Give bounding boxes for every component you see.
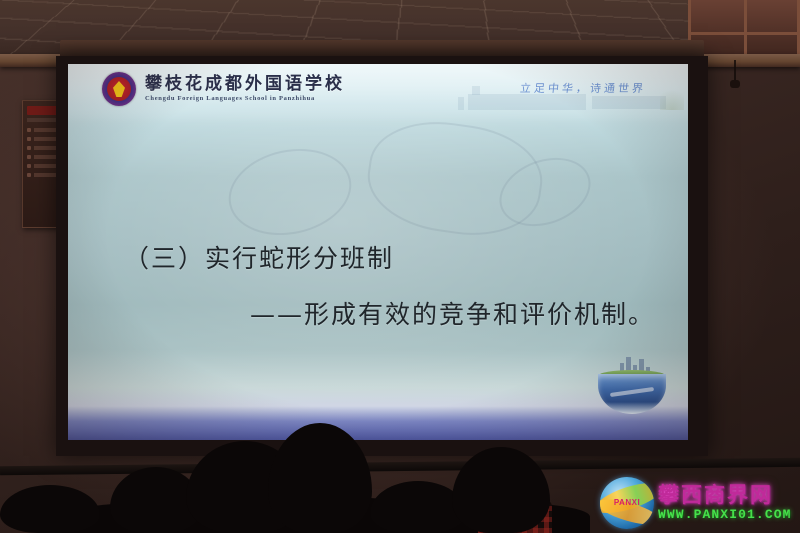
campus-building-graphic	[472, 86, 480, 95]
projection-screen: 攀枝花成都外国语学校 Chengdu Foreign Languages Sch…	[56, 56, 708, 456]
upper-right-window	[688, 0, 800, 62]
watermark-url: WWW.PANXI01.COM	[658, 507, 792, 522]
school-name-block: 攀枝花成都外国语学校 Chengdu Foreign Languages Sch…	[145, 76, 345, 103]
campus-building-graphic	[458, 97, 464, 110]
whiteboard-marks	[221, 138, 360, 246]
globe-label: PANXI	[600, 498, 654, 507]
campus-building-graphic	[592, 96, 666, 109]
panxi-globe-icon: PANXI	[600, 477, 654, 529]
school-motto-calligraphy: 立足中华，诗通世界	[519, 80, 647, 96]
campus-foliage-graphic	[660, 84, 684, 110]
watermark-site-name: 攀西商界网	[658, 484, 792, 506]
site-watermark: PANXI 攀西商界网 WWW.PANXI01.COM	[600, 475, 796, 531]
slide-heading: （三）实行蛇形分班制	[124, 239, 394, 275]
school-name-cn: 攀枝花成都外国语学校	[145, 76, 345, 94]
presentation-slide: 攀枝花成都外国语学校 Chengdu Foreign Languages Sch…	[68, 64, 688, 440]
campus-building-graphic	[468, 94, 586, 110]
globe-city-artwork	[596, 356, 668, 418]
school-emblem-icon	[102, 72, 136, 106]
watermark-text-block: 攀西商界网 WWW.PANXI01.COM	[658, 484, 792, 522]
school-name-en: Chengdu Foreign Languages School in Panz…	[145, 95, 345, 102]
hanging-fixture-icon	[734, 60, 736, 82]
slide-branding: 攀枝花成都外国语学校 Chengdu Foreign Languages Sch…	[102, 72, 345, 106]
classroom-photo-scene: 攀枝花成都外国语学校 Chengdu Foreign Languages Sch…	[0, 0, 800, 533]
whiteboard-marks	[490, 146, 600, 238]
slide-subheading: ——形成有效的竞争和评价机制。	[250, 295, 655, 331]
whiteboard-marks	[361, 112, 548, 244]
